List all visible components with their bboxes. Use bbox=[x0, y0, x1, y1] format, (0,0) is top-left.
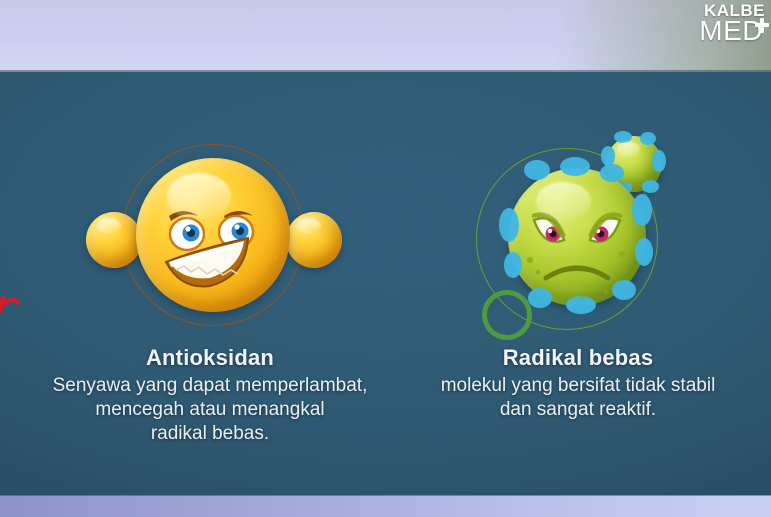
logo-med-wrap: MED bbox=[699, 17, 765, 45]
free-radical-face-icon bbox=[508, 168, 646, 306]
plus-icon bbox=[754, 18, 769, 33]
free-radical-caption: Radikal bebas molekul yang bersifat tida… bbox=[400, 344, 756, 422]
antioxidant-satellite-right bbox=[286, 212, 342, 268]
antioxidant-description-line-2: mencegah atau menangkal bbox=[18, 398, 402, 422]
antioxidant-description-line-1: Senyawa yang dapat memperlambat, bbox=[18, 374, 402, 398]
free-radical-core bbox=[508, 168, 646, 306]
antioxidant-caption: Antioksidan Senyawa yang dapat memperlam… bbox=[18, 344, 402, 446]
antioxidant-description-line-3: radikal bebas. bbox=[18, 422, 402, 446]
antioxidant-description: Senyawa yang dapat memperlambat, mencega… bbox=[18, 374, 402, 447]
scene-area: Antioksidan Senyawa yang dapat memperlam… bbox=[0, 72, 771, 495]
antioxidant-title: Antioksidan bbox=[18, 344, 402, 372]
antioxidant-face-icon bbox=[136, 158, 290, 312]
free-radical-description-line-1: molekul yang bersifat tidak stabil bbox=[400, 374, 756, 398]
antioxidant-core bbox=[136, 158, 290, 312]
free-radical-description: molekul yang bersifat tidak stabil dan s… bbox=[400, 374, 756, 423]
free-radical-description-line-2: dan sangat reaktif. bbox=[400, 398, 756, 422]
free-radical-molecule bbox=[452, 134, 692, 334]
bottom-letterbox-band bbox=[0, 495, 771, 517]
heartbeat-line-icon bbox=[0, 280, 20, 316]
video-frame: Antioksidan Senyawa yang dapat memperlam… bbox=[0, 0, 771, 517]
antioxidant-molecule bbox=[78, 134, 346, 334]
kalbemed-logo: KALBE MED bbox=[699, 2, 765, 45]
free-radical-title: Radikal bebas bbox=[400, 344, 756, 372]
antioxidant-satellite-left bbox=[86, 212, 142, 268]
top-letterbox-band bbox=[0, 0, 771, 72]
